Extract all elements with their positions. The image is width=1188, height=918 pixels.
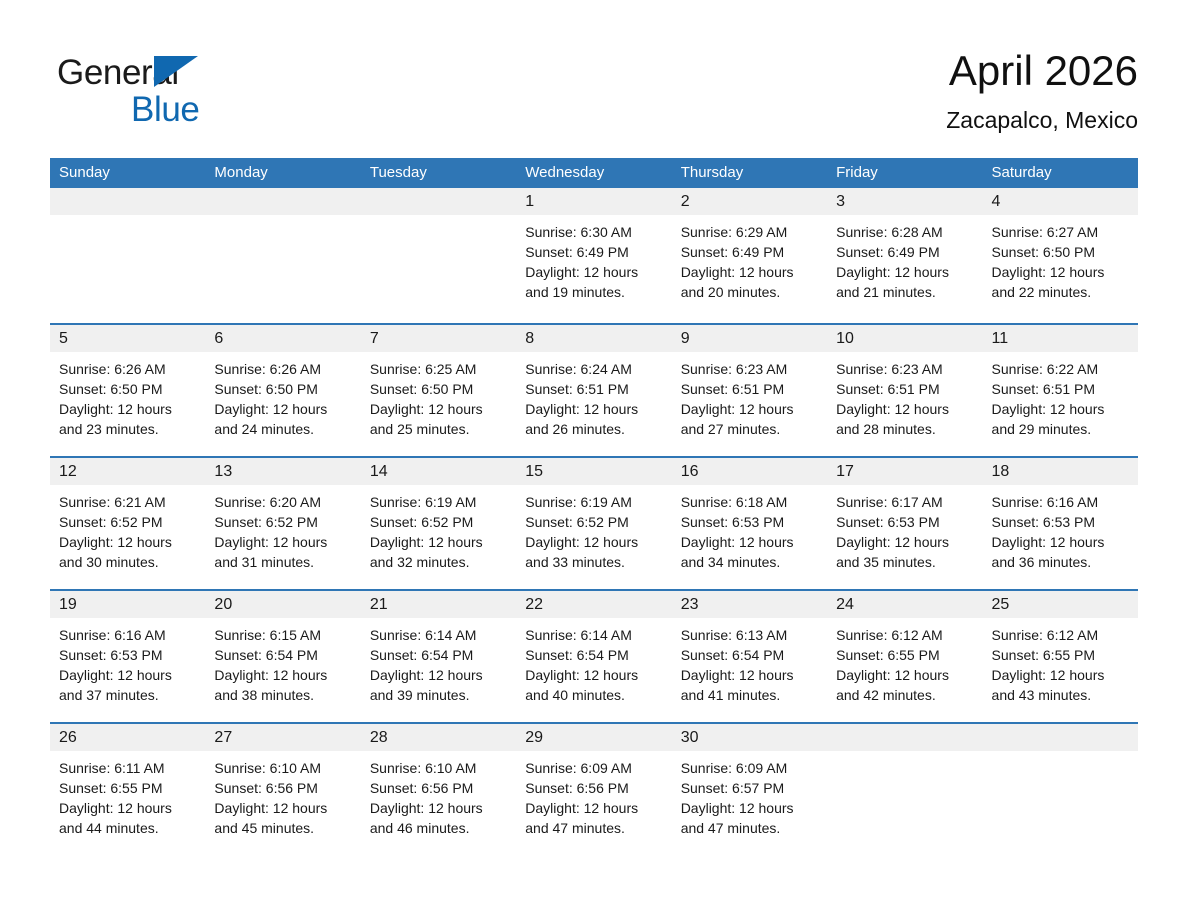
day-details: Sunrise: 6:20 AMSunset: 6:52 PMDaylight:… [205, 485, 360, 572]
day-number: 2 [681, 193, 690, 210]
day-number: 13 [214, 463, 232, 480]
sunset-text: Sunset: 6:56 PM [214, 778, 351, 798]
day-number-band: 21 [361, 591, 516, 618]
day-number-band: 18 [983, 458, 1138, 485]
sunrise-text: Sunrise: 6:25 AM [370, 359, 507, 379]
daylight-text: Daylight: 12 hours and 45 minutes. [214, 798, 351, 838]
daylight-text: Daylight: 12 hours and 33 minutes. [525, 532, 662, 572]
daylight-text: Daylight: 12 hours and 29 minutes. [992, 399, 1129, 439]
day-number: 3 [836, 193, 845, 210]
day-number: 21 [370, 596, 388, 613]
sunrise-text: Sunrise: 6:14 AM [525, 625, 662, 645]
day-cell[interactable]: 11Sunrise: 6:22 AMSunset: 6:51 PMDayligh… [983, 325, 1138, 456]
daylight-text: Daylight: 12 hours and 38 minutes. [214, 665, 351, 705]
day-number-band: 8 [516, 325, 671, 352]
sunset-text: Sunset: 6:52 PM [370, 512, 507, 532]
sunset-text: Sunset: 6:52 PM [59, 512, 196, 532]
daylight-text: Daylight: 12 hours and 42 minutes. [836, 665, 973, 705]
sunset-text: Sunset: 6:51 PM [836, 379, 973, 399]
sunset-text: Sunset: 6:49 PM [525, 242, 662, 262]
day-number-band: 17 [827, 458, 982, 485]
calendar-weeks: 1Sunrise: 6:30 AMSunset: 6:49 PMDaylight… [50, 188, 1138, 855]
day-cell-empty [205, 188, 360, 323]
sunrise-text: Sunrise: 6:09 AM [525, 758, 662, 778]
day-details: Sunrise: 6:16 AMSunset: 6:53 PMDaylight:… [983, 485, 1138, 572]
sunset-text: Sunset: 6:54 PM [214, 645, 351, 665]
day-cell[interactable]: 27Sunrise: 6:10 AMSunset: 6:56 PMDayligh… [205, 724, 360, 855]
sunrise-text: Sunrise: 6:09 AM [681, 758, 818, 778]
sunrise-text: Sunrise: 6:12 AM [992, 625, 1129, 645]
daylight-text: Daylight: 12 hours and 44 minutes. [59, 798, 196, 838]
day-number-band: 25 [983, 591, 1138, 618]
day-details: Sunrise: 6:15 AMSunset: 6:54 PMDaylight:… [205, 618, 360, 705]
weekday-header-saturday: Saturday [983, 158, 1138, 188]
day-number-band: 28 [361, 724, 516, 751]
day-number-band: 30 [672, 724, 827, 751]
day-cell[interactable]: 30Sunrise: 6:09 AMSunset: 6:57 PMDayligh… [672, 724, 827, 855]
day-cell[interactable]: 21Sunrise: 6:14 AMSunset: 6:54 PMDayligh… [361, 591, 516, 722]
sunset-text: Sunset: 6:50 PM [992, 242, 1129, 262]
sunset-text: Sunset: 6:51 PM [525, 379, 662, 399]
day-details: Sunrise: 6:28 AMSunset: 6:49 PMDaylight:… [827, 215, 982, 302]
day-cell[interactable]: 16Sunrise: 6:18 AMSunset: 6:53 PMDayligh… [672, 458, 827, 589]
day-details: Sunrise: 6:26 AMSunset: 6:50 PMDaylight:… [205, 352, 360, 439]
day-cell[interactable]: 12Sunrise: 6:21 AMSunset: 6:52 PMDayligh… [50, 458, 205, 589]
sunset-text: Sunset: 6:52 PM [214, 512, 351, 532]
general-blue-logo[interactable]: General Blue [57, 54, 317, 134]
sunrise-text: Sunrise: 6:29 AM [681, 222, 818, 242]
day-cell[interactable]: 10Sunrise: 6:23 AMSunset: 6:51 PMDayligh… [827, 325, 982, 456]
sunset-text: Sunset: 6:55 PM [836, 645, 973, 665]
day-number: 1 [525, 193, 534, 210]
week-row: 26Sunrise: 6:11 AMSunset: 6:55 PMDayligh… [50, 722, 1138, 855]
weekday-header-thursday: Thursday [672, 158, 827, 188]
week-row: 1Sunrise: 6:30 AMSunset: 6:49 PMDaylight… [50, 188, 1138, 323]
day-number: 4 [992, 193, 1001, 210]
day-cell[interactable]: 19Sunrise: 6:16 AMSunset: 6:53 PMDayligh… [50, 591, 205, 722]
day-cell[interactable]: 7Sunrise: 6:25 AMSunset: 6:50 PMDaylight… [361, 325, 516, 456]
day-number: 22 [525, 596, 543, 613]
sunrise-text: Sunrise: 6:10 AM [214, 758, 351, 778]
day-number-band: 13 [205, 458, 360, 485]
day-number-band: 4 [983, 188, 1138, 215]
sunset-text: Sunset: 6:54 PM [525, 645, 662, 665]
daylight-text: Daylight: 12 hours and 39 minutes. [370, 665, 507, 705]
daylight-text: Daylight: 12 hours and 30 minutes. [59, 532, 196, 572]
day-details: Sunrise: 6:10 AMSunset: 6:56 PMDaylight:… [205, 751, 360, 838]
day-details: Sunrise: 6:22 AMSunset: 6:51 PMDaylight:… [983, 352, 1138, 439]
day-details: Sunrise: 6:25 AMSunset: 6:50 PMDaylight:… [361, 352, 516, 439]
daylight-text: Daylight: 12 hours and 37 minutes. [59, 665, 196, 705]
day-number-band: 11 [983, 325, 1138, 352]
sunset-text: Sunset: 6:49 PM [836, 242, 973, 262]
day-number-band [361, 188, 516, 215]
daylight-text: Daylight: 12 hours and 24 minutes. [214, 399, 351, 439]
weekday-header-monday: Monday [205, 158, 360, 188]
day-number: 5 [59, 330, 68, 347]
day-cell-empty [827, 724, 982, 855]
daylight-text: Daylight: 12 hours and 47 minutes. [681, 798, 818, 838]
day-number-band: 20 [205, 591, 360, 618]
day-details: Sunrise: 6:19 AMSunset: 6:52 PMDaylight:… [361, 485, 516, 572]
sunset-text: Sunset: 6:51 PM [681, 379, 818, 399]
sunrise-text: Sunrise: 6:30 AM [525, 222, 662, 242]
day-number: 29 [525, 729, 543, 746]
day-number: 23 [681, 596, 699, 613]
sunrise-text: Sunrise: 6:23 AM [836, 359, 973, 379]
day-details: Sunrise: 6:23 AMSunset: 6:51 PMDaylight:… [827, 352, 982, 439]
daylight-text: Daylight: 12 hours and 31 minutes. [214, 532, 351, 572]
day-details: Sunrise: 6:14 AMSunset: 6:54 PMDaylight:… [516, 618, 671, 705]
day-cell[interactable]: 14Sunrise: 6:19 AMSunset: 6:52 PMDayligh… [361, 458, 516, 589]
day-number-band: 2 [672, 188, 827, 215]
triangle-icon [154, 56, 198, 87]
day-number: 17 [836, 463, 854, 480]
week-row: 19Sunrise: 6:16 AMSunset: 6:53 PMDayligh… [50, 589, 1138, 722]
day-details: Sunrise: 6:29 AMSunset: 6:49 PMDaylight:… [672, 215, 827, 302]
sunrise-text: Sunrise: 6:19 AM [525, 492, 662, 512]
daylight-text: Daylight: 12 hours and 36 minutes. [992, 532, 1129, 572]
daylight-text: Daylight: 12 hours and 41 minutes. [681, 665, 818, 705]
day-number: 30 [681, 729, 699, 746]
sunrise-text: Sunrise: 6:21 AM [59, 492, 196, 512]
day-details: Sunrise: 6:09 AMSunset: 6:57 PMDaylight:… [672, 751, 827, 838]
weekday-header-wednesday: Wednesday [516, 158, 671, 188]
sunset-text: Sunset: 6:52 PM [525, 512, 662, 532]
day-number: 25 [992, 596, 1010, 613]
day-number: 8 [525, 330, 534, 347]
sunrise-text: Sunrise: 6:23 AM [681, 359, 818, 379]
day-cell[interactable]: 6Sunrise: 6:26 AMSunset: 6:50 PMDaylight… [205, 325, 360, 456]
calendar-page: General Blue April 2026 Zacapalco, Mexic… [0, 0, 1188, 918]
day-number: 12 [59, 463, 77, 480]
sunrise-text: Sunrise: 6:22 AM [992, 359, 1129, 379]
day-number: 27 [214, 729, 232, 746]
day-cell[interactable]: 15Sunrise: 6:19 AMSunset: 6:52 PMDayligh… [516, 458, 671, 589]
daylight-text: Daylight: 12 hours and 28 minutes. [836, 399, 973, 439]
day-cell[interactable]: 4Sunrise: 6:27 AMSunset: 6:50 PMDaylight… [983, 188, 1138, 323]
daylight-text: Daylight: 12 hours and 25 minutes. [370, 399, 507, 439]
day-cell[interactable]: 5Sunrise: 6:26 AMSunset: 6:50 PMDaylight… [50, 325, 205, 456]
sunrise-text: Sunrise: 6:15 AM [214, 625, 351, 645]
sunset-text: Sunset: 6:56 PM [370, 778, 507, 798]
sunrise-text: Sunrise: 6:20 AM [214, 492, 351, 512]
day-details: Sunrise: 6:26 AMSunset: 6:50 PMDaylight:… [50, 352, 205, 439]
day-number-band [827, 724, 982, 751]
day-details: Sunrise: 6:16 AMSunset: 6:53 PMDaylight:… [50, 618, 205, 705]
day-number-band: 15 [516, 458, 671, 485]
day-number-band [205, 188, 360, 215]
daylight-text: Daylight: 12 hours and 21 minutes. [836, 262, 973, 302]
day-number-band: 3 [827, 188, 982, 215]
day-cell[interactable]: 20Sunrise: 6:15 AMSunset: 6:54 PMDayligh… [205, 591, 360, 722]
daylight-text: Daylight: 12 hours and 32 minutes. [370, 532, 507, 572]
sunset-text: Sunset: 6:50 PM [370, 379, 507, 399]
daylight-text: Daylight: 12 hours and 19 minutes. [525, 262, 662, 302]
day-cell[interactable]: 29Sunrise: 6:09 AMSunset: 6:56 PMDayligh… [516, 724, 671, 855]
daylight-text: Daylight: 12 hours and 40 minutes. [525, 665, 662, 705]
sunset-text: Sunset: 6:53 PM [59, 645, 196, 665]
day-number-band: 6 [205, 325, 360, 352]
day-number-band: 23 [672, 591, 827, 618]
week-row: 5Sunrise: 6:26 AMSunset: 6:50 PMDaylight… [50, 323, 1138, 456]
day-cell[interactable]: 23Sunrise: 6:13 AMSunset: 6:54 PMDayligh… [672, 591, 827, 722]
sunset-text: Sunset: 6:55 PM [992, 645, 1129, 665]
sunset-text: Sunset: 6:53 PM [681, 512, 818, 532]
weekday-header-row: Sunday Monday Tuesday Wednesday Thursday… [50, 158, 1138, 188]
day-number-band: 27 [205, 724, 360, 751]
day-details: Sunrise: 6:19 AMSunset: 6:52 PMDaylight:… [516, 485, 671, 572]
day-number-band: 22 [516, 591, 671, 618]
day-number-band: 29 [516, 724, 671, 751]
sunrise-text: Sunrise: 6:26 AM [59, 359, 196, 379]
logo-text-blue: Blue [57, 92, 317, 128]
day-number: 28 [370, 729, 388, 746]
day-number: 6 [214, 330, 223, 347]
day-details: Sunrise: 6:09 AMSunset: 6:56 PMDaylight:… [516, 751, 671, 838]
day-number: 10 [836, 330, 854, 347]
day-details: Sunrise: 6:10 AMSunset: 6:56 PMDaylight:… [361, 751, 516, 838]
sunset-text: Sunset: 6:54 PM [370, 645, 507, 665]
sunrise-text: Sunrise: 6:18 AM [681, 492, 818, 512]
day-details: Sunrise: 6:27 AMSunset: 6:50 PMDaylight:… [983, 215, 1138, 302]
sunrise-text: Sunrise: 6:17 AM [836, 492, 973, 512]
page-title: April 2026 [946, 46, 1138, 96]
day-details: Sunrise: 6:12 AMSunset: 6:55 PMDaylight:… [983, 618, 1138, 705]
day-cell-empty [50, 188, 205, 323]
week-row: 12Sunrise: 6:21 AMSunset: 6:52 PMDayligh… [50, 456, 1138, 589]
sunrise-text: Sunrise: 6:16 AM [59, 625, 196, 645]
sunrise-text: Sunrise: 6:13 AM [681, 625, 818, 645]
day-number-band: 14 [361, 458, 516, 485]
day-number-band: 5 [50, 325, 205, 352]
day-details: Sunrise: 6:24 AMSunset: 6:51 PMDaylight:… [516, 352, 671, 439]
day-number-band [50, 188, 205, 215]
sunset-text: Sunset: 6:53 PM [992, 512, 1129, 532]
weekday-header-tuesday: Tuesday [361, 158, 516, 188]
day-number: 11 [992, 330, 1009, 347]
day-number-band: 16 [672, 458, 827, 485]
day-cell[interactable]: 26Sunrise: 6:11 AMSunset: 6:55 PMDayligh… [50, 724, 205, 855]
day-number-band [983, 724, 1138, 751]
day-number: 26 [59, 729, 77, 746]
day-number: 24 [836, 596, 854, 613]
title-block: April 2026 Zacapalco, Mexico [946, 46, 1138, 136]
daylight-text: Daylight: 12 hours and 27 minutes. [681, 399, 818, 439]
sunset-text: Sunset: 6:56 PM [525, 778, 662, 798]
daylight-text: Daylight: 12 hours and 20 minutes. [681, 262, 818, 302]
day-number-band: 26 [50, 724, 205, 751]
day-number-band: 9 [672, 325, 827, 352]
calendar-table: Sunday Monday Tuesday Wednesday Thursday… [50, 158, 1138, 855]
daylight-text: Daylight: 12 hours and 22 minutes. [992, 262, 1129, 302]
day-number-band: 24 [827, 591, 982, 618]
sunrise-text: Sunrise: 6:27 AM [992, 222, 1129, 242]
day-number: 15 [525, 463, 543, 480]
sunrise-text: Sunrise: 6:16 AM [992, 492, 1129, 512]
day-cell[interactable]: 9Sunrise: 6:23 AMSunset: 6:51 PMDaylight… [672, 325, 827, 456]
day-details: Sunrise: 6:21 AMSunset: 6:52 PMDaylight:… [50, 485, 205, 572]
day-number: 14 [370, 463, 388, 480]
daylight-text: Daylight: 12 hours and 35 minutes. [836, 532, 973, 572]
sunrise-text: Sunrise: 6:26 AM [214, 359, 351, 379]
day-number: 19 [59, 596, 77, 613]
sunset-text: Sunset: 6:55 PM [59, 778, 196, 798]
weekday-header-sunday: Sunday [50, 158, 205, 188]
sunrise-text: Sunrise: 6:14 AM [370, 625, 507, 645]
page-subtitle: Zacapalco, Mexico [946, 104, 1138, 136]
sunrise-text: Sunrise: 6:10 AM [370, 758, 507, 778]
daylight-text: Daylight: 12 hours and 46 minutes. [370, 798, 507, 838]
page-header: General Blue April 2026 Zacapalco, Mexic… [50, 46, 1138, 146]
sunset-text: Sunset: 6:53 PM [836, 512, 973, 532]
daylight-text: Daylight: 12 hours and 34 minutes. [681, 532, 818, 572]
weekday-header-friday: Friday [827, 158, 982, 188]
sunrise-text: Sunrise: 6:24 AM [525, 359, 662, 379]
daylight-text: Daylight: 12 hours and 43 minutes. [992, 665, 1129, 705]
sunrise-text: Sunrise: 6:12 AM [836, 625, 973, 645]
day-cell[interactable]: 3Sunrise: 6:28 AMSunset: 6:49 PMDaylight… [827, 188, 982, 323]
day-cell[interactable]: 2Sunrise: 6:29 AMSunset: 6:49 PMDaylight… [672, 188, 827, 323]
day-cell[interactable]: 22Sunrise: 6:14 AMSunset: 6:54 PMDayligh… [516, 591, 671, 722]
daylight-text: Daylight: 12 hours and 26 minutes. [525, 399, 662, 439]
day-number: 16 [681, 463, 699, 480]
day-details: Sunrise: 6:14 AMSunset: 6:54 PMDaylight:… [361, 618, 516, 705]
day-number: 7 [370, 330, 379, 347]
sunset-text: Sunset: 6:51 PM [992, 379, 1129, 399]
sunset-text: Sunset: 6:57 PM [681, 778, 818, 798]
day-details: Sunrise: 6:23 AMSunset: 6:51 PMDaylight:… [672, 352, 827, 439]
day-details: Sunrise: 6:18 AMSunset: 6:53 PMDaylight:… [672, 485, 827, 572]
sunset-text: Sunset: 6:50 PM [59, 379, 196, 399]
day-cell[interactable]: 1Sunrise: 6:30 AMSunset: 6:49 PMDaylight… [516, 188, 671, 323]
day-cell[interactable]: 24Sunrise: 6:12 AMSunset: 6:55 PMDayligh… [827, 591, 982, 722]
day-cell[interactable]: 13Sunrise: 6:20 AMSunset: 6:52 PMDayligh… [205, 458, 360, 589]
day-number: 20 [214, 596, 232, 613]
day-details: Sunrise: 6:13 AMSunset: 6:54 PMDaylight:… [672, 618, 827, 705]
day-cell[interactable]: 25Sunrise: 6:12 AMSunset: 6:55 PMDayligh… [983, 591, 1138, 722]
day-cell[interactable]: 28Sunrise: 6:10 AMSunset: 6:56 PMDayligh… [361, 724, 516, 855]
day-number-band: 10 [827, 325, 982, 352]
sunrise-text: Sunrise: 6:19 AM [370, 492, 507, 512]
day-cell[interactable]: 17Sunrise: 6:17 AMSunset: 6:53 PMDayligh… [827, 458, 982, 589]
sunrise-text: Sunrise: 6:11 AM [59, 758, 196, 778]
sunrise-text: Sunrise: 6:28 AM [836, 222, 973, 242]
day-number: 9 [681, 330, 690, 347]
day-number-band: 19 [50, 591, 205, 618]
day-details: Sunrise: 6:17 AMSunset: 6:53 PMDaylight:… [827, 485, 982, 572]
daylight-text: Daylight: 12 hours and 47 minutes. [525, 798, 662, 838]
day-number-band: 7 [361, 325, 516, 352]
day-details: Sunrise: 6:12 AMSunset: 6:55 PMDaylight:… [827, 618, 982, 705]
day-cell-empty [361, 188, 516, 323]
day-number-band: 12 [50, 458, 205, 485]
daylight-text: Daylight: 12 hours and 23 minutes. [59, 399, 196, 439]
day-cell[interactable]: 18Sunrise: 6:16 AMSunset: 6:53 PMDayligh… [983, 458, 1138, 589]
day-details: Sunrise: 6:30 AMSunset: 6:49 PMDaylight:… [516, 215, 671, 302]
day-cell-empty [983, 724, 1138, 855]
sunset-text: Sunset: 6:54 PM [681, 645, 818, 665]
day-number-band: 1 [516, 188, 671, 215]
sunset-text: Sunset: 6:50 PM [214, 379, 351, 399]
day-cell[interactable]: 8Sunrise: 6:24 AMSunset: 6:51 PMDaylight… [516, 325, 671, 456]
day-details: Sunrise: 6:11 AMSunset: 6:55 PMDaylight:… [50, 751, 205, 838]
day-number: 18 [992, 463, 1010, 480]
sunset-text: Sunset: 6:49 PM [681, 242, 818, 262]
